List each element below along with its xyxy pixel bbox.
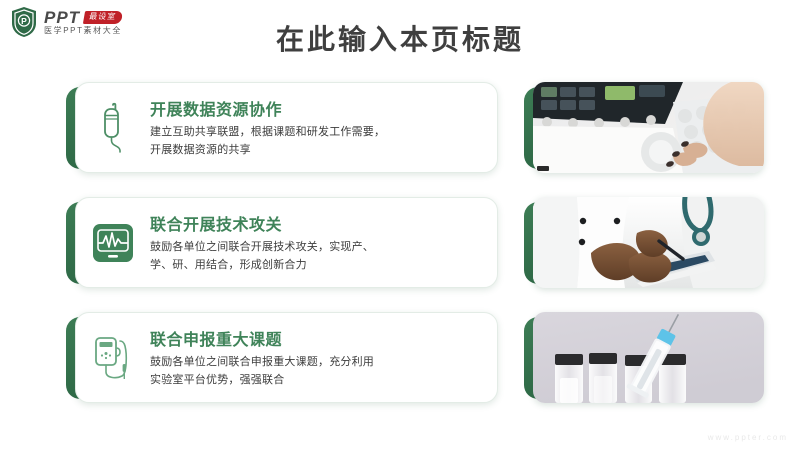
photo-wrapper [524, 312, 764, 403]
card-description-line: 鼓励各单位之间联合申报重大课题，充分利用 [150, 354, 483, 371]
info-card[interactable]: 联合开展技术攻关 鼓励各单位之间联合开展技术攻关，实现产、 学、研、用结合，形成… [75, 197, 498, 288]
card-heading: 开展数据资源协作 [150, 96, 483, 120]
card-text-body: 联合开展技术攻关 鼓励各单位之间联合开展技术攻关，实现产、 学、研、用结合，形成… [150, 211, 497, 273]
syringe-vials-photo [533, 312, 764, 403]
info-card-wrapper: 联合开展技术攻关 鼓励各单位之间联合开展技术攻关，实现产、 学、研、用结合，形成… [66, 197, 498, 288]
photo-wrapper [524, 82, 764, 173]
card-description: 鼓励各单位之间联合开展技术攻关，实现产、 学、研、用结合，形成创新合力 [150, 239, 483, 273]
card-description: 建立互助共享联盟，根据课题和研发工作需要， 开展数据资源的共享 [150, 124, 483, 158]
content-row: 联合开展技术攻关 鼓励各单位之间联合开展技术攻关，实现产、 学、研、用结合，形成… [0, 197, 800, 288]
info-card[interactable]: 联合申报重大课题 鼓励各单位之间联合申报重大课题，充分利用 实验室平台优势，强强… [75, 312, 498, 403]
card-heading: 联合开展技术攻关 [150, 211, 483, 235]
watermark: www.ppter.com [708, 433, 788, 442]
slide-canvas: P PPT 最设室 医学PPT素材大全 在此输入本页标题 [0, 0, 800, 450]
info-card[interactable]: 开展数据资源协作 建立互助共享联盟，根据课题和研发工作需要， 开展数据资源的共享 [75, 82, 498, 173]
info-card-wrapper: 开展数据资源协作 建立互助共享联盟，根据课题和研发工作需要， 开展数据资源的共享 [66, 82, 498, 173]
card-description-line: 鼓励各单位之间联合开展技术攻关，实现产、 [150, 239, 483, 256]
page-title: 在此输入本页标题 [0, 18, 800, 58]
content-rows: 开展数据资源协作 建立互助共享联盟，根据课题和研发工作需要， 开展数据资源的共享 [0, 82, 800, 427]
photo-wrapper [524, 197, 764, 288]
card-description-line: 建立互助共享联盟，根据课题和研发工作需要， [150, 124, 483, 141]
iv-drip-icon [76, 102, 150, 154]
card-description-line: 学、研、用结合，形成创新合力 [150, 257, 483, 274]
content-row: 联合申报重大课题 鼓励各单位之间联合申报重大课题，充分利用 实验室平台优势，强强… [0, 312, 800, 403]
doctor-clipboard-photo [533, 197, 764, 288]
card-description: 鼓励各单位之间联合申报重大课题，充分利用 实验室平台优势，强强联合 [150, 354, 483, 388]
ecg-monitor-icon [76, 222, 150, 264]
card-heading: 联合申报重大课题 [150, 326, 483, 350]
card-description-line: 开展数据资源的共享 [150, 142, 483, 159]
card-description-line: 实验室平台优势，强强联合 [150, 372, 483, 389]
infusion-pump-icon [76, 332, 150, 384]
card-text-body: 联合申报重大课题 鼓励各单位之间联合申报重大课题，充分利用 实验室平台优势，强强… [150, 326, 497, 388]
card-text-body: 开展数据资源协作 建立互助共享联盟，根据课题和研发工作需要， 开展数据资源的共享 [150, 96, 497, 158]
info-card-wrapper: 联合申报重大课题 鼓励各单位之间联合申报重大课题，充分利用 实验室平台优势，强强… [66, 312, 498, 403]
content-row: 开展数据资源协作 建立互助共享联盟，根据课题和研发工作需要， 开展数据资源的共享 [0, 82, 800, 173]
ultrasound-console-photo [533, 82, 764, 173]
